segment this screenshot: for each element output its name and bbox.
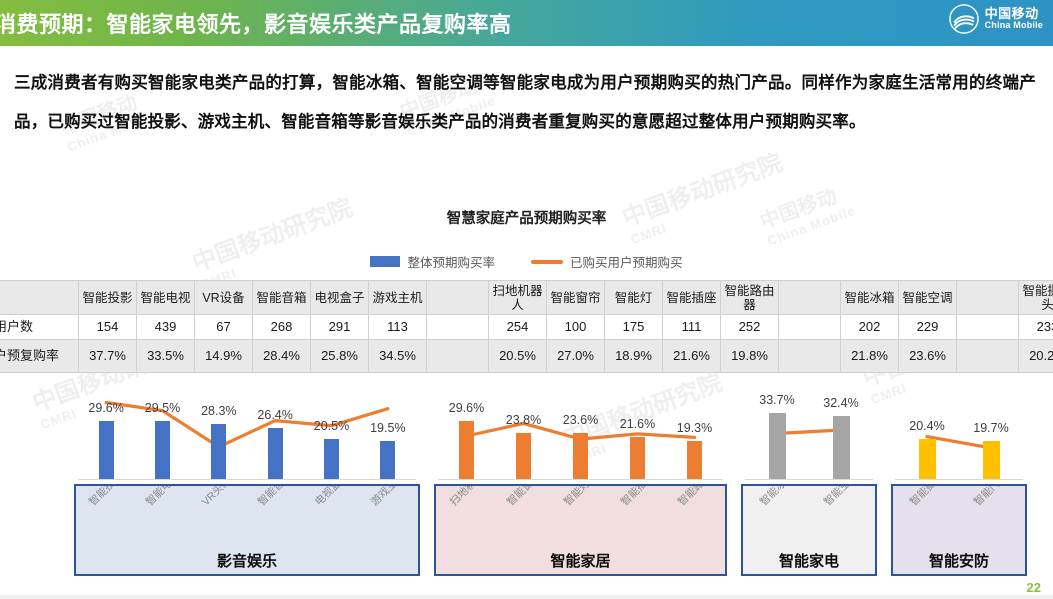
chart-bar — [155, 421, 170, 479]
table-column-header: 智能音箱 — [253, 281, 311, 315]
table-cell: 34.5% — [369, 340, 427, 373]
page-title: 消费预期：智能家电领先，影音娱乐类产品复购率高 — [0, 7, 512, 39]
category-box: 智能投影智能电视VR头戴设备智能音箱电视盒子游戏主机影音娱乐 — [74, 484, 420, 576]
table-corner-cell — [0, 281, 79, 315]
chart-bar — [919, 439, 936, 479]
table-column-header: 扫地机器人 — [489, 281, 547, 315]
bar-value-label: 20.5% — [306, 419, 358, 433]
bar-value-label: 29.6% — [80, 401, 132, 415]
bar-value-label: 33.7% — [751, 393, 803, 407]
category-box-title: 智能家电 — [743, 550, 875, 571]
chart-bar — [630, 437, 645, 479]
chart-bar — [268, 428, 283, 479]
chart-title: 智慧家庭产品预期购买率 — [0, 207, 1053, 228]
table-column-header: 智能投影 — [79, 281, 137, 315]
logo-text-cn: 中国移动 — [985, 7, 1043, 21]
axis-tick-label: 智能投影 — [86, 484, 126, 509]
table-column-header: VR设备 — [195, 281, 253, 315]
axis-tick-label: 智能电视 — [142, 484, 182, 509]
table-gap-cell — [427, 281, 489, 315]
table-gap-cell — [957, 315, 1019, 340]
table-column-header: 智能摄像头 — [1019, 281, 1053, 315]
category-box-title: 智能家居 — [436, 550, 725, 571]
data-table: 智能投影智能电视VR设备智能音箱电视盒子游戏主机扫地机器人智能窗帘智能灯智能插座… — [0, 280, 1053, 373]
table-cell: 28.4% — [253, 340, 311, 373]
table-cell: 254 — [489, 315, 547, 340]
china-mobile-swirl-icon — [949, 4, 979, 34]
chart-bar — [380, 441, 395, 479]
table-column-header: 智能电视 — [137, 281, 195, 315]
axis-tick-label: 智能灯 — [560, 484, 593, 509]
table-cell: 175 — [605, 315, 663, 340]
table-column-header: 电视盒子 — [311, 281, 369, 315]
table-column-header: 游戏主机 — [369, 281, 427, 315]
axis-tick-label: 智能窗帘 — [503, 484, 543, 509]
chart-bar — [573, 433, 588, 479]
table-gap-cell — [957, 281, 1019, 315]
table-cell: 111 — [663, 315, 721, 340]
axis-tick-label: 智能空调 — [820, 484, 860, 509]
table-cell: 18.9% — [605, 340, 663, 373]
table-cell: 113 — [369, 315, 427, 340]
table-gap-cell — [427, 315, 489, 340]
table-cell: 14.9% — [195, 340, 253, 373]
bar-value-label: 19.3% — [669, 421, 721, 435]
table-cell: 154 — [79, 315, 137, 340]
table-header-row: 智能投影智能电视VR设备智能音箱电视盒子游戏主机扫地机器人智能窗帘智能灯智能插座… — [0, 281, 1053, 315]
logo-text-en: China Mobile — [985, 21, 1043, 30]
table-cell: 439 — [137, 315, 195, 340]
axis-tick-label: 智能门铃/猫眼 — [970, 484, 1027, 509]
chart-bar — [983, 441, 1000, 479]
table-column-header: 智能冰箱 — [841, 281, 899, 315]
bottom-divider — [0, 595, 1053, 599]
chart-bar — [99, 421, 114, 479]
table-row: 已购用户预复购率37.7%33.5%14.9%28.4%25.8%34.5%20… — [0, 340, 1053, 373]
chart-plot-area: 29.6%29.5%28.3%26.4%20.5%19.5%29.6%23.8%… — [0, 376, 1053, 480]
body-paragraph: 三成消费者有购买智能家电类产品的打算，智能冰箱、智能空调等智能家电成为用户预期购… — [14, 64, 1036, 142]
table-cell: 202 — [841, 315, 899, 340]
table-cell: 20.5% — [489, 340, 547, 373]
bar-value-label: 23.8% — [498, 413, 550, 427]
category-box: 智能摄像头智能门铃/猫眼智能安防 — [891, 484, 1027, 576]
table-cell: 33.5% — [137, 340, 195, 373]
axis-tick-label: 电视盒子 — [311, 484, 351, 509]
watermark: 中国移动研究院CMRI — [617, 143, 792, 247]
bar-value-label: 29.5% — [137, 401, 189, 415]
bar-value-label: 23.6% — [555, 413, 607, 427]
chart-bar — [211, 424, 226, 479]
axis-tick-label: 游戏主机 — [367, 484, 407, 509]
table-gap-cell — [779, 315, 841, 340]
table-cell: 23.6% — [899, 340, 957, 373]
table-cell: 27.0% — [547, 340, 605, 373]
table-column-header: 智能窗帘 — [547, 281, 605, 315]
table-gap-cell — [779, 281, 841, 315]
trend-line — [927, 437, 991, 448]
table-cell: 291 — [311, 315, 369, 340]
slide-title-bar: 消费预期：智能家电领先，影音娱乐类产品复购率高 中国移动 China Mobil… — [0, 0, 1053, 46]
legend-swatch-bar-icon — [370, 256, 400, 267]
axis-tick-label: 扫地机器人 — [446, 484, 494, 509]
table-column-header: 智能插座 — [663, 281, 721, 315]
legend-label-repurchase: 已购买用户预期购买 — [570, 252, 683, 271]
legend-label-overall: 整体预期购买率 — [407, 252, 495, 271]
chart-bar — [324, 439, 339, 479]
legend-item-repurchase: 已购买用户预期购买 — [531, 252, 683, 271]
table-gap-cell — [957, 340, 1019, 373]
table-row-label: 已购买用户数 — [0, 315, 79, 340]
table-cell: 229 — [899, 315, 957, 340]
legend-item-overall: 整体预期购买率 — [370, 252, 495, 271]
chart-bar — [459, 421, 474, 479]
table-cell: 25.8% — [311, 340, 369, 373]
chart-bar — [769, 413, 786, 479]
chart-baseline — [745, 479, 873, 480]
bar-value-label: 21.6% — [612, 417, 664, 431]
axis-tick-label: VR头戴设备 — [198, 484, 249, 509]
watermark: 中国移动研究院CMRI — [187, 188, 362, 292]
table-gap-cell — [427, 340, 489, 373]
axis-tick-label: 智能冰箱 — [756, 484, 796, 509]
table-row: 已购买用户数1544396726829111325410017511125220… — [0, 315, 1053, 340]
table-cell: 20.2% — [1019, 340, 1053, 373]
bar-value-label: 20.4% — [901, 419, 953, 433]
table-cell: 37.7% — [79, 340, 137, 373]
category-box: 扫地机器人智能窗帘智能灯智能插座智能路由器智能家居 — [434, 484, 727, 576]
category-box-title: 智能安防 — [893, 550, 1025, 571]
trend-line — [777, 430, 841, 434]
table-column-header: 智能空调 — [899, 281, 957, 315]
table-gap-cell — [779, 340, 841, 373]
page-number: 22 — [1027, 580, 1041, 595]
table-cell: 21.8% — [841, 340, 899, 373]
table-column-header: 智能路由器 — [721, 281, 779, 315]
bar-value-label: 28.3% — [193, 404, 245, 418]
table-cell: 100 — [547, 315, 605, 340]
bar-value-label: 32.4% — [815, 396, 867, 410]
chart-baseline — [895, 479, 1023, 480]
table-cell: 252 — [721, 315, 779, 340]
legend-swatch-line-icon — [531, 260, 563, 264]
bar-value-label: 29.6% — [441, 401, 493, 415]
category-box: 智能冰箱智能空调智能家电 — [741, 484, 877, 576]
table-cell: 19.8% — [721, 340, 779, 373]
axis-tick-label: 智能音箱 — [255, 484, 295, 509]
table-column-header: 智能灯 — [605, 281, 663, 315]
chart-baseline — [78, 479, 416, 480]
table-row-label: 已购用户预复购率 — [0, 340, 79, 373]
table-cell: 67 — [195, 315, 253, 340]
data-table-wrapper: 智能投影智能电视VR设备智能音箱电视盒子游戏主机扫地机器人智能窗帘智能灯智能插座… — [0, 280, 1053, 373]
slide-root: 消费预期：智能家电领先，影音娱乐类产品复购率高 中国移动 China Mobil… — [0, 0, 1053, 599]
chart-bar — [687, 441, 702, 479]
category-box-title: 影音娱乐 — [76, 550, 418, 571]
chart-bar — [833, 416, 850, 479]
axis-tick-label: 智能插座 — [617, 484, 657, 509]
bar-value-label: 19.5% — [362, 421, 414, 435]
chart-bar — [516, 433, 531, 479]
china-mobile-logo: 中国移动 China Mobile — [949, 4, 1043, 34]
table-cell: 233 — [1019, 315, 1053, 340]
bar-value-label: 19.7% — [965, 421, 1017, 435]
table-cell: 21.6% — [663, 340, 721, 373]
chart-baseline — [438, 479, 723, 480]
axis-tick-label: 智能摄像头 — [906, 484, 954, 509]
axis-tick-label: 智能路由器 — [674, 484, 722, 509]
bar-value-label: 26.4% — [249, 408, 301, 422]
table-cell: 268 — [253, 315, 311, 340]
chart-legend: 整体预期购买率 已购买用户预期购买 — [0, 252, 1053, 271]
